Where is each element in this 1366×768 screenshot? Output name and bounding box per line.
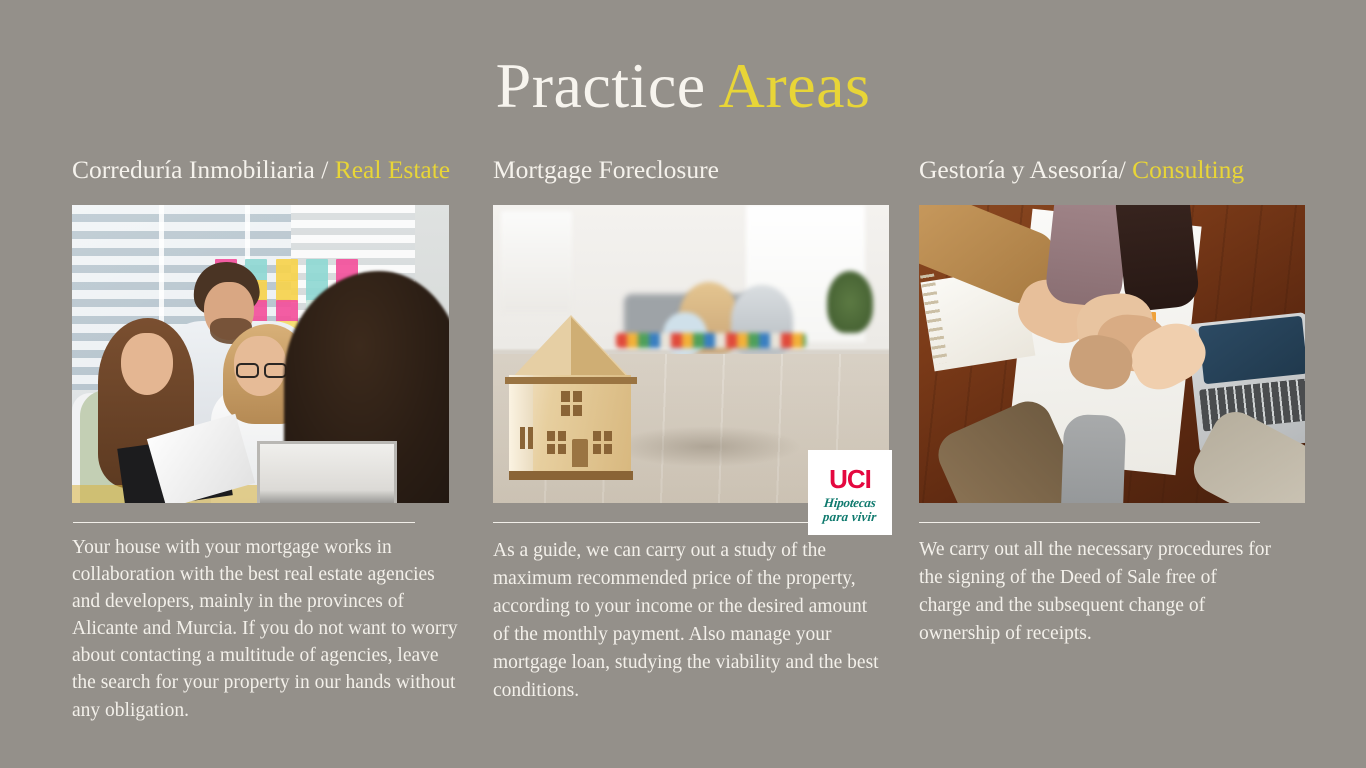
page-title-accent: Areas — [719, 50, 871, 121]
hands-together-teamwork-photo — [919, 205, 1305, 503]
page-title-main: Practice — [496, 50, 719, 121]
uci-tagline-line1: Hipotecas — [823, 496, 876, 510]
page-title: Practice Areas — [0, 52, 1366, 119]
model-house-icon — [509, 315, 643, 473]
uci-logo-badge: UCI Hipotecas para vivir — [808, 450, 892, 535]
office-team-meeting-photo — [72, 205, 449, 503]
practice-area-card-real-estate: Correduría Inmobiliaria / Real Estate — [72, 155, 452, 724]
card-divider — [919, 522, 1260, 523]
card-body-real-estate: Your house with your mortgage works in c… — [72, 534, 460, 724]
card-heading-accent: Real Estate — [335, 155, 450, 184]
card-body-mortgage-foreclosure: As a guide, we can carry out a study of … — [493, 537, 885, 705]
card-heading-main: Gestoría y Asesoría/ — [919, 155, 1132, 184]
card-heading-main: Mortgage Foreclosure — [493, 155, 719, 184]
card-heading-main: Correduría Inmobiliaria / — [72, 155, 335, 184]
card-heading-real-estate: Correduría Inmobiliaria / Real Estate — [72, 155, 452, 191]
card-heading-consulting: Gestoría y Asesoría/ Consulting — [919, 155, 1305, 191]
card-heading-mortgage-foreclosure: Mortgage Foreclosure — [493, 155, 890, 191]
practice-areas-columns: Correduría Inmobiliaria / Real Estate — [0, 155, 1366, 755]
uci-brand-text: UCI — [829, 466, 871, 492]
card-body-consulting: We carry out all the necessary procedure… — [919, 536, 1271, 648]
card-heading-accent: Consulting — [1132, 155, 1244, 184]
card-divider — [73, 522, 415, 523]
practice-area-card-consulting: Gestoría y Asesoría/ Consulting — [919, 155, 1305, 648]
uci-tagline-line2: para vivir — [822, 510, 877, 524]
practice-area-card-mortgage-foreclosure: Mortgage Foreclosure — [493, 155, 890, 705]
